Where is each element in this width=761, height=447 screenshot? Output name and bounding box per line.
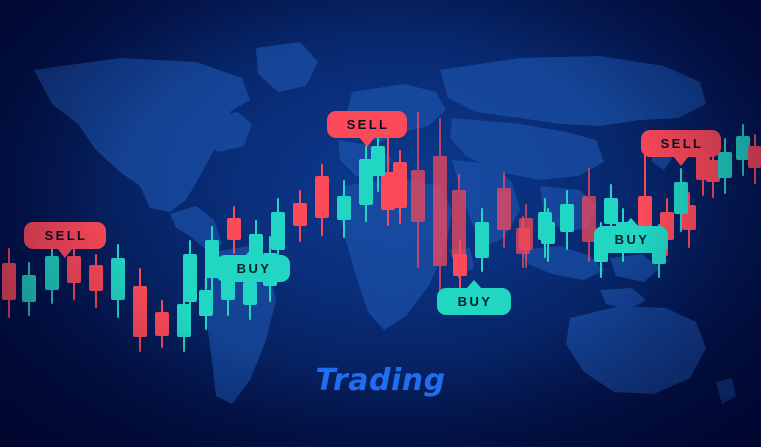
candle-body-bearish: [67, 256, 81, 283]
candle-body-bearish: [133, 286, 147, 337]
candlestick: [315, 164, 329, 236]
candle-body-bearish: [516, 228, 530, 254]
candlestick: [89, 254, 103, 308]
candle-body-bullish: [183, 254, 197, 302]
badge-pointer-down: [57, 248, 73, 258]
candle-body-bullish: [475, 222, 489, 258]
candlestick: [748, 134, 761, 184]
badge-label: BUY: [458, 294, 493, 309]
candlestick: [155, 300, 169, 348]
candle-body-bearish: [89, 265, 103, 291]
badge-pointer-up: [623, 218, 639, 227]
candle-body-bullish: [22, 275, 36, 302]
candle-body-bullish: [674, 182, 688, 214]
candle-body-bearish: [315, 176, 329, 218]
candle-body-bearish: [748, 146, 761, 168]
badge-label: SELL: [45, 228, 88, 243]
badge-label: SELL: [347, 117, 390, 132]
candle-body-bullish: [337, 196, 351, 220]
candlestick: [2, 248, 16, 318]
candle-body-bullish: [243, 282, 257, 305]
sell-signal-badge[interactable]: SELL: [327, 111, 407, 138]
candle-body-bearish: [453, 254, 467, 276]
candlestick: [337, 180, 351, 238]
buy-signal-badge[interactable]: BUY: [216, 255, 290, 282]
sell-signal-badge[interactable]: SELL: [641, 130, 721, 157]
candlestick: [411, 112, 425, 268]
trading-banner: SELLBUYSELLBUYBUYSELL Trading: [0, 0, 761, 447]
candlestick: [538, 198, 552, 258]
sell-signal-badge[interactable]: SELL: [24, 222, 106, 249]
candle-body-bearish: [293, 203, 307, 226]
candlestick: [111, 244, 125, 318]
candle-body-bearish: [155, 312, 169, 336]
candlestick: [293, 190, 307, 242]
candle-body-bullish: [560, 204, 574, 232]
badge-pointer-up: [466, 280, 482, 289]
candlestick: [516, 216, 530, 268]
badge-pointer-down: [359, 137, 375, 147]
candle-body-bullish: [718, 152, 732, 178]
candlestick: [393, 150, 407, 224]
badge-label: BUY: [615, 232, 650, 247]
candle-body-bullish: [271, 212, 285, 250]
candlestick: [674, 168, 688, 232]
candle-body-bullish: [45, 256, 59, 290]
badge-pointer-up: [245, 247, 261, 256]
candle-body-bearish: [227, 218, 241, 240]
badge-label: SELL: [661, 136, 704, 151]
candle-body-bearish: [411, 170, 425, 222]
candle-body-bearish: [497, 188, 511, 230]
candlestick: [453, 240, 467, 292]
candlestick: [22, 262, 36, 316]
candlestick: [475, 208, 489, 272]
candle-body-bearish: [393, 162, 407, 208]
candle-body-bearish: [433, 156, 447, 266]
candle-body-bearish: [2, 263, 16, 300]
candlestick: [183, 240, 197, 320]
candle-body-bullish: [538, 212, 552, 240]
candlestick: [433, 118, 447, 300]
candle-body-bullish: [111, 258, 125, 300]
buy-signal-badge[interactable]: BUY: [594, 226, 668, 253]
candlestick: [133, 268, 147, 352]
badge-pointer-down: [673, 156, 689, 166]
buy-signal-badge[interactable]: BUY: [437, 288, 511, 315]
candlestick: [497, 172, 511, 248]
candlestick: [227, 206, 241, 254]
candlestick: [560, 190, 574, 250]
candle-body-bullish: [371, 146, 385, 176]
badge-label: BUY: [237, 261, 272, 276]
wordmark-trading: Trading: [0, 363, 761, 398]
